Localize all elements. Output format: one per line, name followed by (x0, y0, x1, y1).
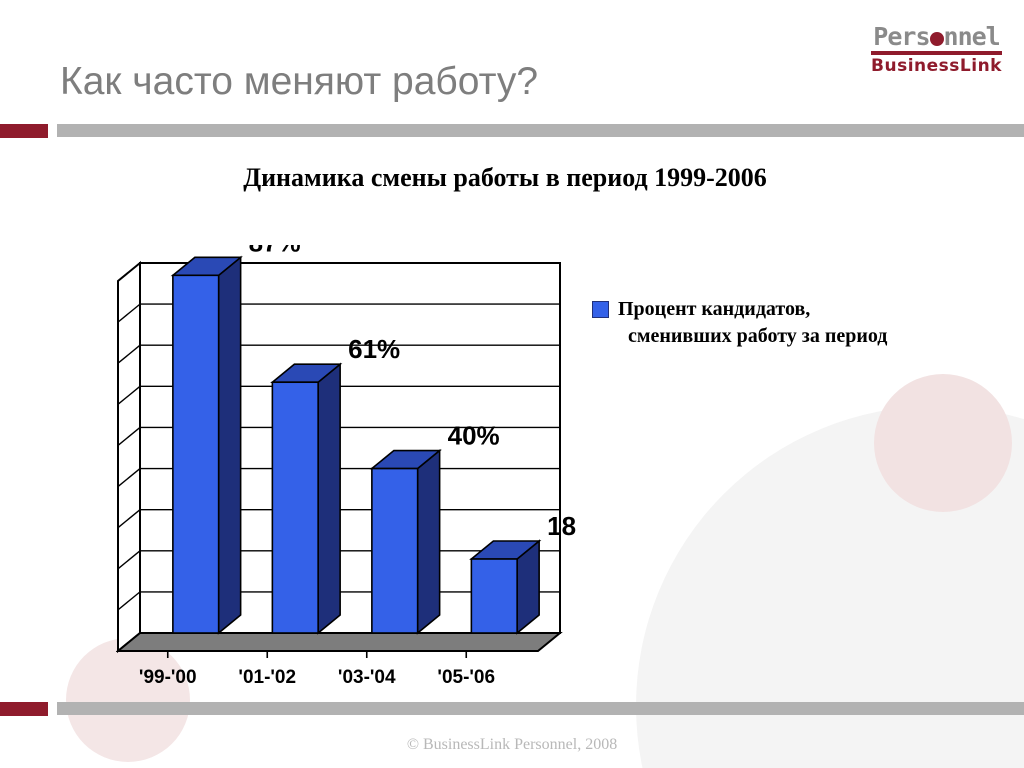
legend-swatch-icon (592, 301, 609, 318)
decorative-pink-circle-right (874, 374, 1012, 512)
logo-divider (871, 51, 1002, 55)
chart-bar-group (372, 451, 440, 633)
logo-wordmark: Persnnel (871, 24, 1002, 49)
chart-bar-side (418, 451, 440, 633)
chart-bar-side (318, 364, 340, 633)
chart-bar-group (173, 257, 241, 633)
brand-logo: Persnnel BusinessLink (871, 24, 1002, 75)
legend-label: Процент кандидатов, сменивших работу за … (618, 296, 887, 350)
chart-data-label: 18% (547, 511, 576, 541)
header-divider (0, 122, 1024, 138)
logo-subtitle: BusinessLink (871, 58, 1002, 75)
copyright-text: © BusinessLink Personnel, 2008 (0, 736, 1024, 754)
legend-label-line1: Процент кандидатов, (618, 298, 810, 320)
chart-bar-front (173, 275, 219, 633)
chart-category-label: '03-'04 (338, 667, 396, 685)
chart-data-label: 40% (448, 421, 500, 451)
chart-data-label: 87% (249, 245, 301, 257)
chart-bar-front (471, 559, 517, 633)
header-divider-accent (0, 124, 48, 138)
chart-legend: Процент кандидатов, сменивших работу за … (592, 296, 982, 350)
chart-bar-front (272, 382, 318, 633)
chart-category-label: '99-'00 (139, 667, 197, 685)
chart-category-label: '01-'02 (238, 667, 296, 685)
logo-word-part2: nnel (944, 22, 1000, 51)
logo-dot-icon (930, 32, 944, 46)
logo-word-part1: Pers (873, 22, 929, 51)
page-title: Как часто меняют работу? (60, 60, 538, 104)
footer-divider (0, 700, 1024, 716)
slide: Persnnel BusinessLink Как часто меняют р… (0, 0, 1024, 768)
chart-left-wall (118, 263, 140, 651)
chart-bar-group (272, 364, 340, 633)
chart-title: Динамика смены работы в период 1999-2006 (0, 163, 1010, 193)
chart-bar-front (372, 469, 418, 633)
chart-data-label: 61% (348, 334, 400, 364)
chart-bar-group (471, 541, 539, 633)
chart-floor (118, 633, 560, 651)
footer-divider-accent (0, 702, 48, 716)
chart-category-label: '05-'06 (437, 667, 495, 685)
legend-label-line2: сменивших работу за период (618, 323, 887, 350)
bar-chart: 87%'99-'0061%'01-'0240%'03-'0418%'05-'06 (116, 245, 576, 685)
footer-divider-bar (57, 702, 1024, 715)
chart-bar-side (219, 257, 241, 633)
header-divider-bar (57, 124, 1024, 137)
